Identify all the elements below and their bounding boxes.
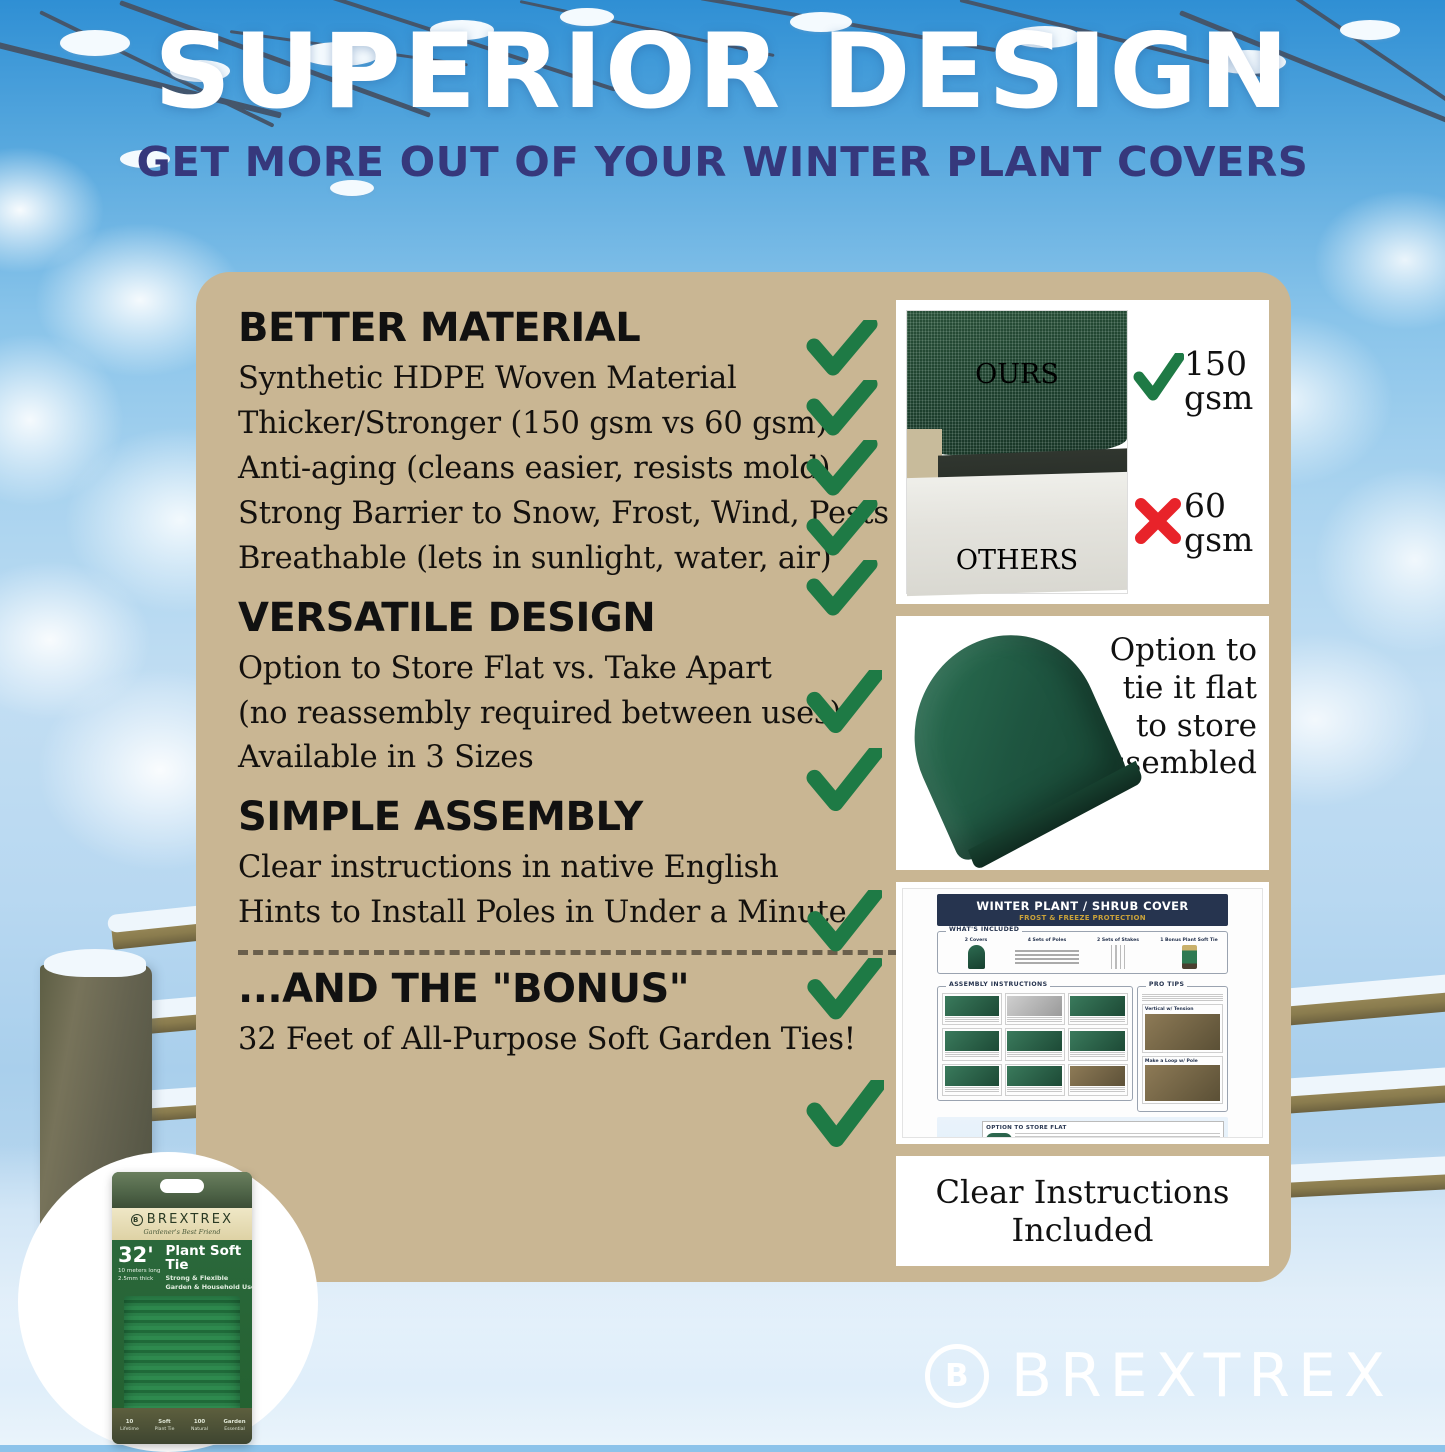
instruction-sheet-card: WINTER PLANT / SHRUB COVER FROST & FREEZ… [896, 882, 1269, 1144]
brand-footer: B BREXTREX [925, 1341, 1393, 1411]
included-item: 2 Sets of Stakes [1084, 938, 1152, 969]
instruction-sheet: WINTER PLANT / SHRUB COVER FROST & FREEZ… [902, 888, 1263, 1138]
material-comparison-card: OURS OTHERS 150gsm 60gsm [896, 300, 1269, 604]
feature-line: Clear instructions in native English [238, 846, 896, 891]
package-footer-cell: SoftPlant Tie [147, 1419, 182, 1432]
brextrex-logo-icon: B [925, 1344, 989, 1408]
pro-tip-label: Vertical w/ Tension [1145, 1007, 1220, 1012]
sheet-subtitle: FROST & FREEZE PROTECTION [937, 914, 1228, 922]
pro-tips-label: PRO TIPS [1146, 981, 1187, 988]
cover-icon [968, 945, 985, 969]
feature-line: Option to Store Flat vs. Take Apart [238, 647, 896, 692]
store-flat-content [986, 1133, 1220, 1138]
feature-section-bonus: ...AND THE "BONUS" 32 Feet of All-Purpos… [238, 967, 896, 1063]
included-item-label: 2 Sets of Stakes [1084, 938, 1152, 943]
pro-tips-column: PRO TIPS Vertical w/ Tension Make a Loop… [1137, 980, 1228, 1112]
package-header-photo [112, 1172, 252, 1208]
sheet-header: WINTER PLANT / SHRUB COVER FROST & FREEZ… [937, 894, 1228, 926]
image-cards-column: OURS OTHERS 150gsm 60gsm [896, 272, 1291, 1282]
section-heading: VERSATILE DESIGN [238, 596, 896, 641]
check-icon [806, 890, 878, 958]
checkmark-column [806, 320, 896, 620]
included-item: 4 Sets of Poles [1013, 938, 1081, 969]
page-subtitle: GET MORE OUT OF YOUR WINTER PLANT COVERS [0, 138, 1445, 186]
package-tagline: Gardener's Best Friend [112, 1228, 252, 1236]
brand-b-icon: B [131, 1214, 143, 1226]
store-flat-box: OPTION TO STORE FLAT [982, 1121, 1224, 1138]
assembly-column: ASSEMBLY INSTRUCTIONS [937, 980, 1133, 1112]
package-footer-cell: 100Natural [182, 1419, 217, 1432]
package-detail: 10 meters long [118, 1268, 161, 1276]
ours-gsm-row: 150gsm [1132, 347, 1259, 414]
stakes-icon [1084, 945, 1152, 969]
assembly-step [1005, 993, 1065, 1025]
package-brand-text: BREXTREX [147, 1212, 234, 1227]
store-flat-text: Option to tie it flat to store assembled [1091, 626, 1259, 860]
header: SUPERIOR DESIGN GET MORE OUT OF YOUR WIN… [0, 18, 1445, 186]
checkmark-column [806, 670, 896, 826]
pro-tip-photo [1145, 1014, 1220, 1050]
feature-line: Available in 3 Sizes [238, 736, 896, 781]
included-items-row: 2 Covers 4 Sets of Poles 2 Sets of Stake… [942, 938, 1223, 969]
check-icon [806, 380, 878, 440]
feature-line: Strong Barrier to Snow, Frost, Wind, Pes… [238, 492, 896, 537]
feature-section-better-material: BETTER MATERIAL Synthetic HDPE Woven Mat… [238, 306, 896, 582]
poles-icon [1013, 945, 1081, 969]
sheet-title: WINTER PLANT / SHRUB COVER [937, 899, 1228, 913]
package-product-name: Plant Soft Tie [166, 1245, 253, 1272]
included-item-label: 1 Bonus Plant Soft Tie [1155, 938, 1223, 943]
others-label: OTHERS [907, 545, 1127, 576]
pro-tips-box: PRO TIPS Vertical w/ Tension Make a Loop… [1137, 986, 1228, 1112]
store-flat-photo [986, 1133, 1012, 1138]
check-icon [806, 958, 878, 1026]
package-brand: B BREXTREX [112, 1212, 252, 1227]
check-icon [806, 748, 878, 826]
sheet-body: ASSEMBLY INSTRUCTIONS [937, 980, 1228, 1112]
sheet-footer: BREXTREX OPTION TO STORE FLAT [937, 1117, 1228, 1138]
package-info: 32' 10 meters long 2.5mm thick Plant Sof… [112, 1240, 252, 1296]
assembly-label: ASSEMBLY INSTRUCTIONS [946, 981, 1050, 988]
package-sub: Strong & Flexible [166, 1274, 253, 1283]
assembly-step [942, 1028, 1002, 1060]
package-brand-bar: B BREXTREX Gardener's Best Friend [112, 1208, 252, 1240]
assembly-step [1005, 1064, 1065, 1096]
assembly-steps-grid [942, 993, 1128, 1096]
package-footer: 10Lifetime SoftPlant Tie 100Natural Gard… [112, 1408, 252, 1444]
section-heading: BETTER MATERIAL [238, 306, 896, 351]
feature-line: 32 Feet of All-Purpose Soft Garden Ties! [238, 1018, 896, 1063]
assembly-step [1068, 993, 1128, 1025]
package-name-block: Plant Soft Tie Strong & Flexible Garden … [166, 1245, 253, 1292]
section-heading: ...AND THE "BONUS" [238, 967, 896, 1012]
included-item: 2 Covers [942, 938, 1010, 969]
fabric-comparison-photo: OURS OTHERS [906, 310, 1128, 594]
assembly-box: ASSEMBLY INSTRUCTIONS [937, 986, 1133, 1101]
included-item-label: 2 Covers [942, 938, 1010, 943]
assembly-step [942, 1064, 1002, 1096]
pro-tip-label: Make a Loop w/ Pole [1145, 1059, 1220, 1064]
whats-included-label: WHAT'S INCLUDED [946, 926, 1022, 933]
others-fabric-swatch [907, 471, 1127, 596]
ours-label: OURS [907, 359, 1127, 390]
package-sub: Garden & Household Use [166, 1283, 253, 1292]
check-icon [806, 320, 878, 380]
store-flat-card: Option to tie it flat to store assembled [896, 616, 1269, 870]
package-footer-cell: 10Lifetime [112, 1419, 147, 1432]
feature-line: Thicker/Stronger (150 gsm vs 60 gsm) [238, 402, 896, 447]
others-gsm-value: 60gsm [1184, 489, 1253, 556]
checkmark-column [806, 890, 896, 1026]
page-title: SUPERIOR DESIGN [0, 18, 1445, 126]
assembly-step [1005, 1028, 1065, 1060]
others-gsm-row: 60gsm [1132, 489, 1259, 556]
pro-tip: Vertical w/ Tension [1142, 1004, 1223, 1053]
included-item-label: 4 Sets of Poles [1013, 938, 1081, 943]
soft-tie-icon [1182, 945, 1197, 969]
gsm-comparison: 150gsm 60gsm [1128, 310, 1259, 594]
included-item: 1 Bonus Plant Soft Tie [1155, 938, 1223, 969]
feature-line: Anti-aging (cleans easier, resists mold) [238, 447, 896, 492]
package-length: 32' [118, 1245, 161, 1266]
ours-gsm-value: 150gsm [1184, 347, 1253, 414]
section-divider [238, 950, 898, 955]
checkmark-column [806, 1080, 896, 1158]
feature-line: Hints to Install Poles in Under a Minute [238, 891, 896, 936]
check-icon [806, 560, 878, 620]
section-heading: SIMPLE ASSEMBLY [238, 795, 896, 840]
check-icon [1132, 353, 1184, 410]
package-footer-cell: GardenEssential [217, 1419, 252, 1432]
store-flat-text-lines [1015, 1133, 1220, 1138]
check-icon [806, 500, 878, 560]
check-icon [806, 670, 878, 748]
feature-line: Breathable (lets in sunlight, water, air… [238, 537, 896, 582]
brand-name: BREXTREX [1011, 1341, 1393, 1411]
folded-cover-photo [906, 626, 1091, 860]
cross-icon [1132, 495, 1184, 552]
feature-line: Synthetic HDPE Woven Material [238, 357, 896, 402]
instructions-caption: Clear Instructions Included [896, 1156, 1269, 1266]
assembly-step [1068, 1064, 1128, 1096]
store-flat-heading: OPTION TO STORE FLAT [986, 1125, 1220, 1131]
soft-tie-package: B BREXTREX Gardener's Best Friend 32' 10… [112, 1172, 252, 1444]
whats-included-box: WHAT'S INCLUDED 2 Covers 4 Sets of Poles… [937, 931, 1228, 974]
pro-tip-photo [1145, 1065, 1220, 1101]
check-icon [806, 1080, 878, 1158]
feature-line: (no reassembly required between uses) [238, 692, 896, 737]
package-detail: 2.5mm thick [118, 1276, 161, 1284]
assembly-step [942, 993, 1002, 1025]
features-panel: BETTER MATERIAL Synthetic HDPE Woven Mat… [196, 272, 1291, 1282]
hang-hole [160, 1179, 204, 1193]
features-text-column: BETTER MATERIAL Synthetic HDPE Woven Mat… [196, 272, 896, 1282]
feature-section-simple-assembly: SIMPLE ASSEMBLY Clear instructions in na… [238, 795, 896, 936]
bonus-product-circle: B BREXTREX Gardener's Best Friend 32' 10… [18, 1152, 318, 1452]
check-icon [806, 440, 878, 500]
assembly-step [1068, 1028, 1128, 1060]
pro-tip: Make a Loop w/ Pole [1142, 1056, 1223, 1105]
package-length-block: 32' 10 meters long 2.5mm thick [118, 1245, 161, 1292]
feature-section-versatile-design: VERSATILE DESIGN Option to Store Flat vs… [238, 596, 896, 782]
